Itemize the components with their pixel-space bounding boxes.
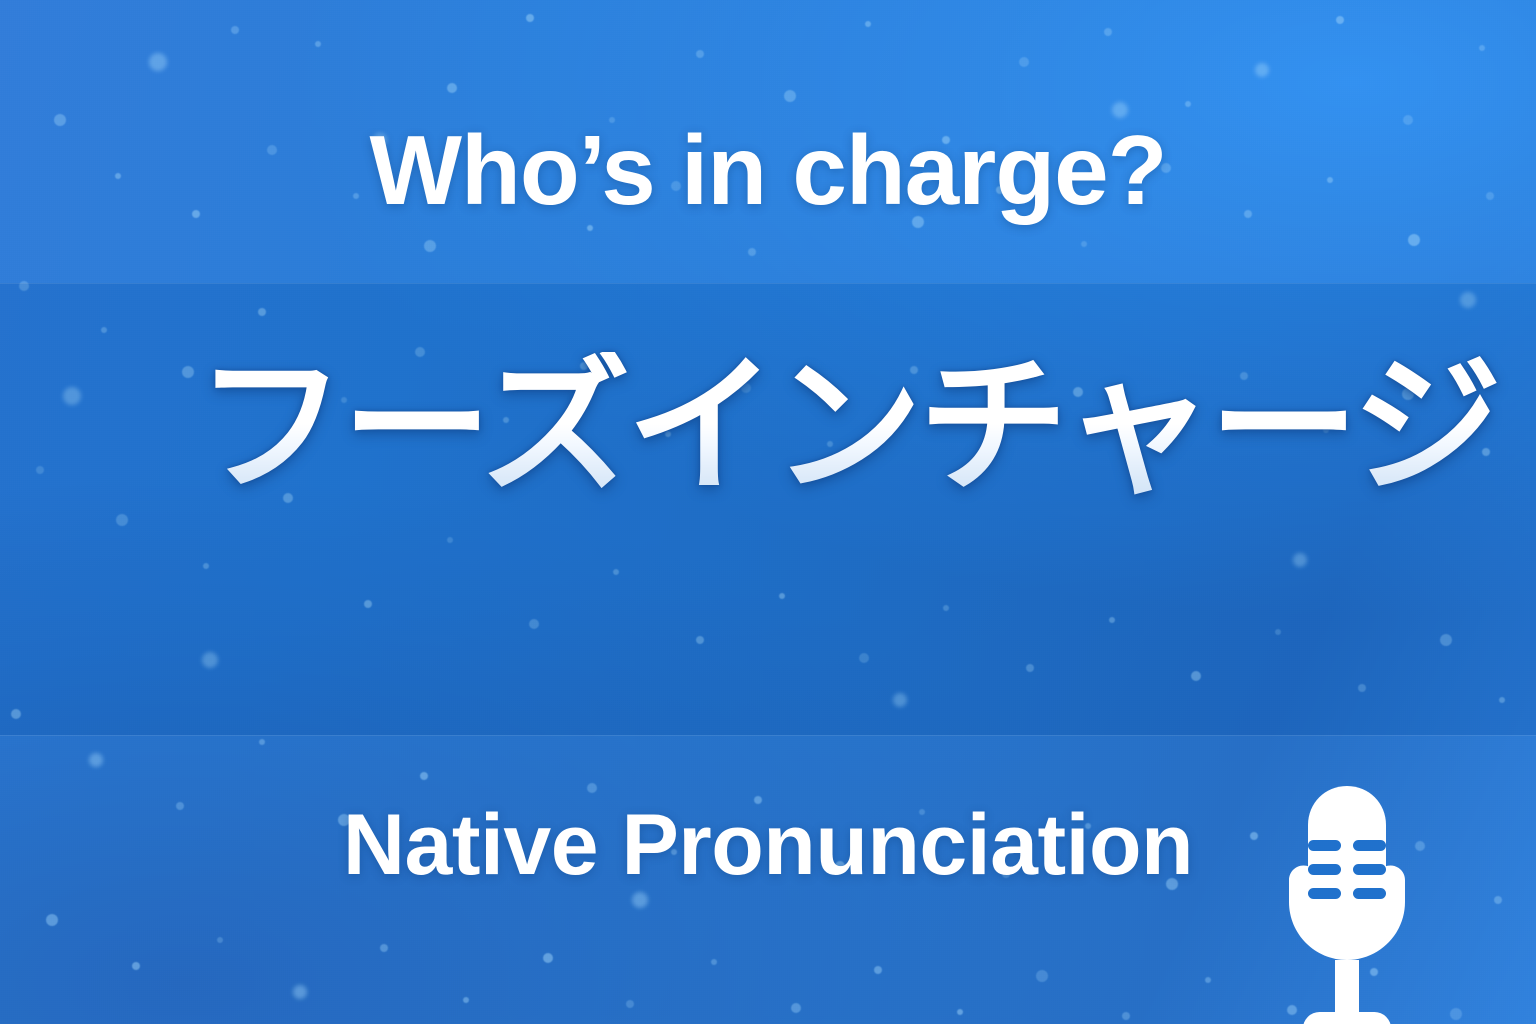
pronunciation-card: Who’s in charge? フーズインチャージ (0, 0, 1536, 1024)
content-layer: Who’s in charge? フーズインチャージ (0, 0, 1536, 1024)
footer-label: Native Pronunciation (0, 798, 1536, 893)
page-title: Who’s in charge? (0, 118, 1536, 224)
reading-row: フーズインチャージ (0, 352, 1536, 692)
katakana-reading: フーズインチャージ (196, 352, 1498, 502)
